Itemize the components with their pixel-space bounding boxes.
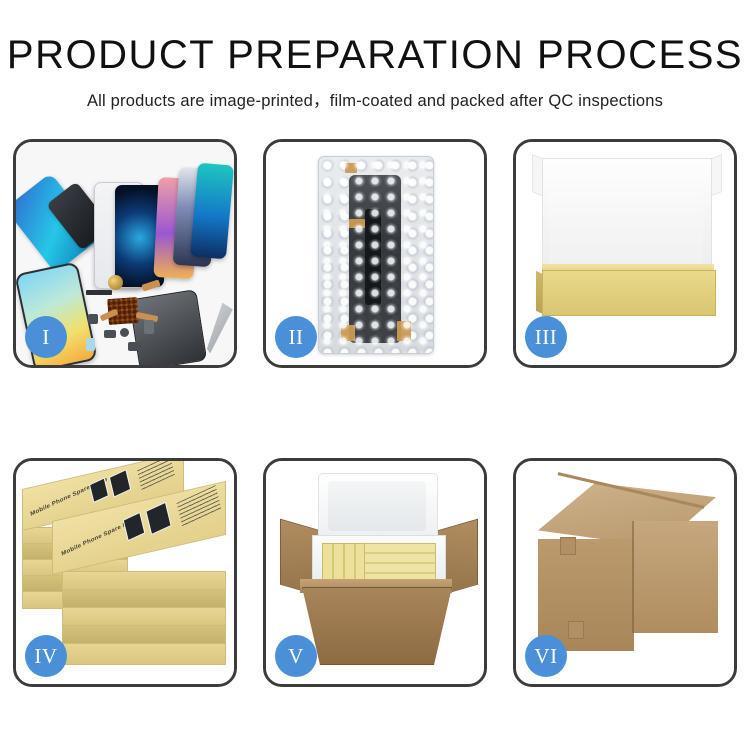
carton-tape-lower — [568, 621, 584, 639]
step-4-image: Mobile Phone Spare Parts Mobile Phone Sp… — [16, 461, 234, 684]
page-header: PRODUCT PREPARATION PROCESS All products… — [0, 34, 750, 111]
step-panel-1: I — [13, 139, 237, 368]
step-badge-3: III — [525, 316, 567, 358]
small-component-1 — [88, 314, 98, 324]
step-panel-6: VI — [513, 458, 737, 687]
step-3-image: III — [516, 142, 734, 365]
step-panel-3: III — [513, 139, 737, 368]
small-component-3 — [128, 342, 142, 351]
product-preparation-process-page: PRODUCT PREPARATION PROCESS All products… — [0, 0, 750, 750]
box-front-panel — [542, 270, 716, 316]
stacked-box-front-2 — [62, 589, 226, 609]
step-panel-5: V — [263, 458, 487, 687]
sealed-carton-front — [538, 539, 634, 651]
stacked-box-front-1 — [62, 571, 226, 591]
process-steps-grid: I II — [13, 139, 737, 689]
phone-display-teal — [190, 163, 234, 260]
step-badge-5: V — [275, 635, 317, 677]
bubble-texture-overlay — [319, 157, 433, 353]
box-label-thumb-front-2 — [145, 502, 171, 535]
step-badge-1: I — [25, 316, 67, 358]
camera-module-part — [120, 328, 129, 337]
step-badge-2: II — [275, 316, 317, 358]
stacked-box-front-4 — [62, 625, 226, 645]
step-badge-6: VI — [525, 635, 567, 677]
foam-box-lid-inner — [328, 481, 426, 531]
box-label-text-lines-front — [177, 485, 222, 527]
box-label-thumb-front-1 — [123, 512, 146, 541]
box-label-thumb-rear-2 — [109, 469, 131, 497]
step-panel-2: II — [263, 139, 487, 368]
box-label-text-lines-rear — [137, 461, 175, 491]
step-badge-4: IV — [25, 635, 67, 677]
page-subtitle: All products are image-printed，film-coat… — [0, 87, 750, 111]
stacked-box-front-3 — [62, 607, 226, 627]
sealed-carton-side — [632, 521, 718, 633]
earpiece-speaker-part — [86, 290, 112, 295]
step-1-image: I — [16, 142, 234, 365]
step-5-image: V — [266, 461, 484, 684]
bubble-wrap-pouch — [318, 156, 434, 354]
carton-tape-upper — [560, 537, 576, 555]
step-panel-4: Mobile Phone Spare Parts Mobile Phone Sp… — [13, 458, 237, 687]
battery-connector-part — [86, 338, 95, 351]
carton-body — [302, 587, 452, 665]
carton-vertical-edge — [632, 521, 634, 633]
step-6-image: VI — [516, 461, 734, 684]
page-title: PRODUCT PREPARATION PROCESS — [0, 34, 750, 76]
white-foam-liner — [549, 184, 703, 270]
stacked-box-front-5 — [62, 643, 226, 665]
phone-back-housing — [129, 289, 207, 365]
sim-tray-part — [144, 320, 154, 334]
vibration-motor-part — [108, 275, 123, 290]
step-2-image: II — [266, 142, 484, 365]
small-component-2 — [104, 330, 116, 338]
